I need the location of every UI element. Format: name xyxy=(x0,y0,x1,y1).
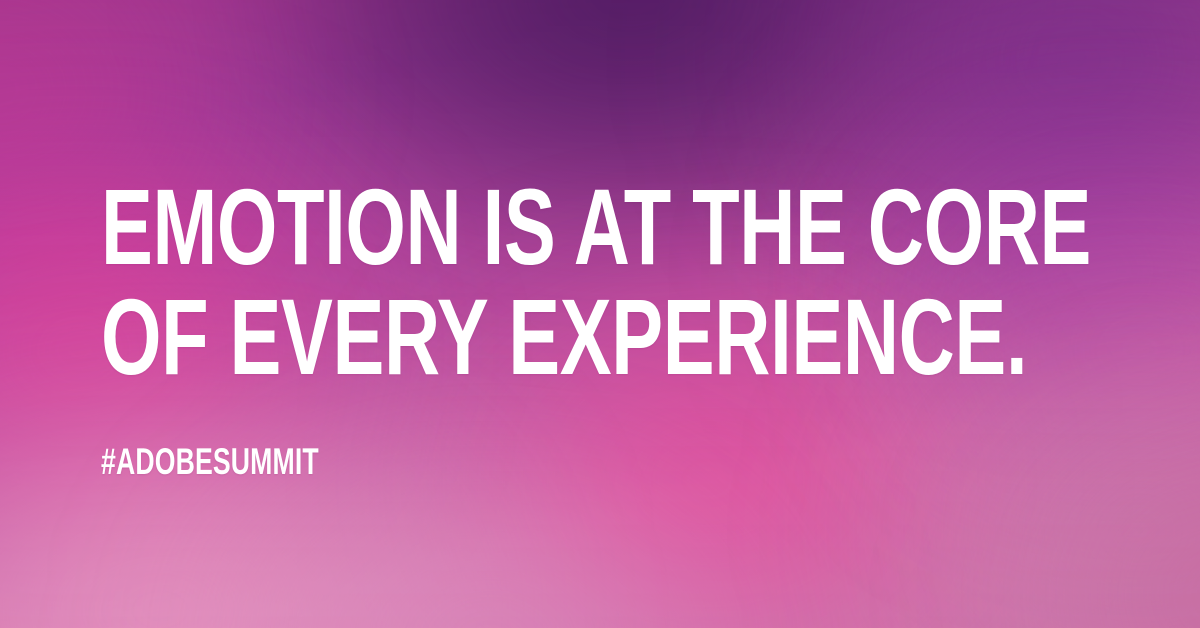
card-content: EMOTION IS AT THE CORE OF EVERY EXPERIEN… xyxy=(101,0,1101,628)
quote-card: EMOTION IS AT THE CORE OF EVERY EXPERIEN… xyxy=(0,0,1200,628)
headline-line-1: EMOTION IS AT THE CORE xyxy=(101,172,1091,282)
hashtag-label: #ADOBESUMMIT xyxy=(101,442,319,482)
page-title: EMOTION IS AT THE CORE OF EVERY EXPERIEN… xyxy=(101,172,1091,392)
headline-line-2: OF EVERY EXPERIENCE. xyxy=(101,282,1091,392)
